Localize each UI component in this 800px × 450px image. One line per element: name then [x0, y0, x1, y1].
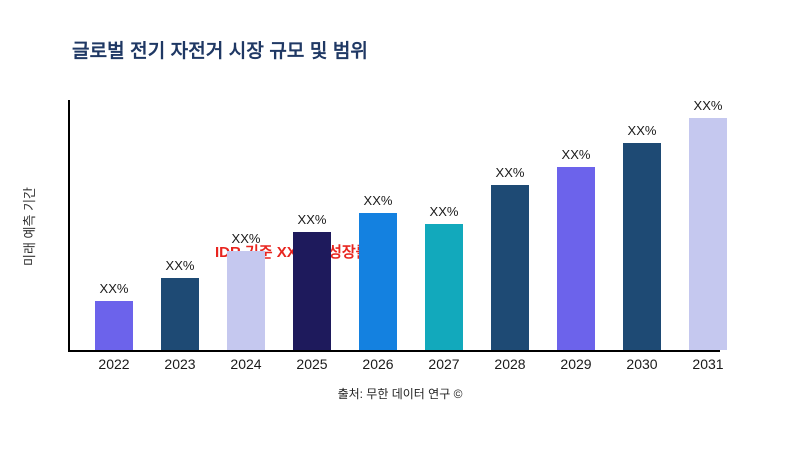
- plot-area: IDR 기준 XX%의 성장률 XX%XX%XX%XX%XX%XX%XX%XX%…: [68, 100, 784, 352]
- bar-rect-2029[interactable]: [557, 167, 595, 350]
- bar-rect-2030[interactable]: [623, 143, 661, 350]
- bar-value-label: XX%: [232, 231, 261, 246]
- bar-rect-2027[interactable]: [425, 224, 463, 350]
- x-axis-tick-labels: 2022202320242025202620272028202920302031: [68, 356, 784, 378]
- bar-2025[interactable]: XX%: [293, 212, 331, 350]
- x-tick-2029: 2029: [543, 356, 609, 372]
- x-tick-2030: 2030: [609, 356, 675, 372]
- bar-2022[interactable]: XX%: [95, 281, 133, 350]
- bar-rect-2024[interactable]: [227, 251, 265, 350]
- bar-rect-2031[interactable]: [689, 118, 727, 350]
- bar-2023[interactable]: XX%: [161, 258, 199, 350]
- bar-2024[interactable]: XX%: [227, 231, 265, 350]
- bar-value-label: XX%: [430, 204, 459, 219]
- bar-rect-2023[interactable]: [161, 278, 199, 350]
- source-caption: 출처: 무한 데이터 연구 ©: [0, 385, 800, 402]
- bar-2029[interactable]: XX%: [557, 147, 595, 350]
- x-tick-2022: 2022: [81, 356, 147, 372]
- bar-value-label: XX%: [496, 165, 525, 180]
- bar-rect-2026[interactable]: [359, 213, 397, 350]
- bar-2030[interactable]: XX%: [623, 123, 661, 350]
- y-axis-label-container: 미래 예측 기간: [8, 100, 48, 352]
- x-tick-2023: 2023: [147, 356, 213, 372]
- bar-rect-2025[interactable]: [293, 232, 331, 350]
- bar-value-label: XX%: [364, 193, 393, 208]
- x-axis-line: [68, 350, 720, 352]
- bar-rect-2022[interactable]: [95, 301, 133, 350]
- bar-value-label: XX%: [694, 98, 723, 113]
- bar-2031[interactable]: XX%: [689, 98, 727, 350]
- bar-2026[interactable]: XX%: [359, 193, 397, 350]
- x-tick-2026: 2026: [345, 356, 411, 372]
- bar-value-label: XX%: [562, 147, 591, 162]
- bar-2028[interactable]: XX%: [491, 165, 529, 350]
- y-axis-line: [68, 100, 70, 352]
- x-tick-2028: 2028: [477, 356, 543, 372]
- page-title: 글로벌 전기 자전거 시장 규모 및 범위: [72, 36, 368, 63]
- chart-figure: 글로벌 전기 자전거 시장 규모 및 범위 미래 예측 기간 IDR 기준 XX…: [0, 0, 800, 450]
- bar-value-label: XX%: [166, 258, 195, 273]
- bar-value-label: XX%: [298, 212, 327, 227]
- x-tick-2027: 2027: [411, 356, 477, 372]
- y-axis-label: 미래 예측 기간: [19, 187, 38, 266]
- bar-value-label: XX%: [100, 281, 129, 296]
- x-tick-2025: 2025: [279, 356, 345, 372]
- x-tick-2024: 2024: [213, 356, 279, 372]
- bar-2027[interactable]: XX%: [425, 204, 463, 350]
- x-tick-2031: 2031: [675, 356, 741, 372]
- bar-rect-2028[interactable]: [491, 185, 529, 350]
- bar-value-label: XX%: [628, 123, 657, 138]
